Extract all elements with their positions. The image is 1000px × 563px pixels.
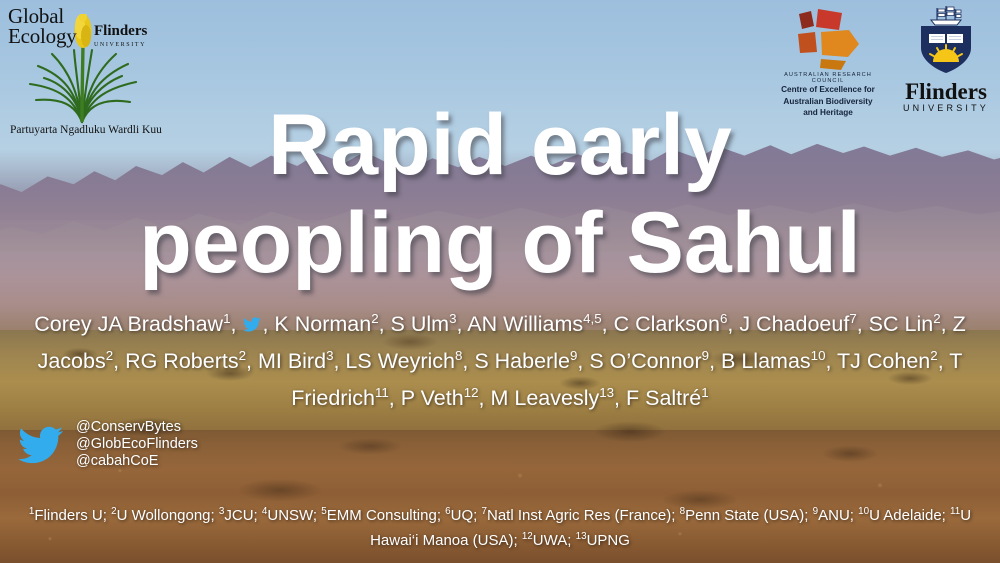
author-name: , AN Williams4,5 <box>457 312 602 336</box>
author-affil-marker: 11 <box>375 385 389 400</box>
affiliation-marker: 2 <box>111 506 117 517</box>
affiliation-entry: 12UWA; <box>522 532 576 549</box>
affiliation-marker: 8 <box>680 506 686 517</box>
cabah-line1: AUSTRALIAN RESEARCH COUNCIL <box>768 72 888 84</box>
author-name: , M Leavesly13 <box>479 386 615 410</box>
handle-lines: @ConservBytes@GlobEcoFlinders@cabahCoE <box>76 419 198 470</box>
social-handle[interactable]: @GlobEcoFlinders <box>76 436 198 453</box>
affiliation-entry: 4UNSW; <box>262 507 321 524</box>
affiliation-marker: 5 <box>321 506 327 517</box>
affiliation-marker: 12 <box>522 531 533 542</box>
affiliation-marker: 4 <box>262 506 268 517</box>
author-name: , J Chadoeuf7 <box>727 312 856 336</box>
ge-word-line1: Global <box>8 6 77 26</box>
author-name: , C Clarkson6 <box>602 312 728 336</box>
author-affil-marker: 4,5 <box>583 311 602 326</box>
affiliation-marker: 13 <box>576 531 587 542</box>
author-affil-marker: 12 <box>464 385 479 400</box>
author-affil-marker: 10 <box>811 348 826 363</box>
author-name: , MI Bird3 <box>246 349 333 373</box>
author-affil-marker: 13 <box>599 385 614 400</box>
title-line-2: peopling of Sahul <box>0 194 1000 292</box>
author-name: , F Saltré1 <box>614 386 709 410</box>
affiliation-entry: 5EMM Consulting; <box>321 507 445 524</box>
author-list: Corey JA Bradshaw1, , K Norman2, S Ulm3,… <box>26 303 974 414</box>
affiliation-entry: 9ANU; <box>813 507 859 524</box>
social-handle[interactable]: @ConservBytes <box>76 419 198 436</box>
ge-flinders-name: Flinders <box>94 23 147 39</box>
author-name: , B Llamas10 <box>709 349 825 373</box>
affiliation-entry: 2U Wollongong; <box>111 507 219 524</box>
author-name: , <box>231 312 243 336</box>
affiliations-footer: 1Flinders U; 2U Wollongong; 3JCU; 4UNSW;… <box>20 501 980 551</box>
seed-head <box>75 14 92 48</box>
author-affil-marker: 1 <box>701 385 708 400</box>
affiliation-marker: 7 <box>482 506 488 517</box>
author-name: , P Veth12 <box>389 386 479 410</box>
affiliation-entry: 3JCU; <box>219 507 262 524</box>
author-affil-marker: 2 <box>239 348 246 363</box>
slide-title: Rapid early peopling of Sahul <box>0 96 1000 292</box>
affiliation-marker: 6 <box>445 506 451 517</box>
author-affil-marker: 7 <box>849 311 856 326</box>
affiliation-marker: 10 <box>858 506 869 517</box>
author-name: , S Haberle9 <box>462 349 577 373</box>
affiliation-marker: 1 <box>29 506 35 517</box>
author-name: , SC Lin2 <box>857 312 941 336</box>
affiliation-entry: 10U Adelaide; <box>858 507 950 524</box>
affiliation-entry: 8Penn State (USA); <box>680 507 813 524</box>
affiliation-entry: 13UPNG <box>576 532 630 549</box>
social-handle[interactable]: @cabahCoE <box>76 453 198 470</box>
affiliation-marker: 9 <box>813 506 819 517</box>
author-affil-marker: 3 <box>449 311 456 326</box>
ge-flinders-partner: Flinders UNIVERSITY <box>94 24 147 52</box>
author-affil-marker: 1 <box>223 311 230 326</box>
ge-word-line2: Ecology <box>8 26 77 46</box>
cabah-line2: Centre of Excellence for <box>768 85 888 96</box>
cabah-puzzle-mark-icon <box>785 8 871 70</box>
author-affil-marker: 2 <box>930 348 937 363</box>
social-handles: @ConservBytes@GlobEcoFlinders@cabahCoE <box>18 419 198 470</box>
author-name: , RG Roberts2 <box>113 349 246 373</box>
author-name: , LS Weyrich8 <box>333 349 462 373</box>
affiliation-entry: 7Natl Inst Agric Res (France); <box>482 507 680 524</box>
author-name: Corey JA Bradshaw1 <box>34 312 230 336</box>
flinders-shield-icon <box>913 4 979 74</box>
presentation-slide: Global Ecology Flinders UNIVERSITY Partu… <box>0 0 1000 563</box>
ship-icon <box>931 6 961 25</box>
affiliation-marker: 3 <box>219 506 225 517</box>
affiliation-entry: 1Flinders U; <box>29 507 111 524</box>
author-name: , K Norman2 <box>262 312 378 336</box>
title-line-1: Rapid early <box>268 97 732 193</box>
author-affil-marker: 2 <box>371 311 378 326</box>
affiliation-marker: 11 <box>950 506 960 517</box>
open-book-icon <box>929 34 963 44</box>
author-affil-marker: 9 <box>702 348 709 363</box>
twitter-bird-icon[interactable] <box>18 425 64 465</box>
ge-flinders-sub: UNIVERSITY <box>94 38 147 52</box>
twitter-bird-icon[interactable] <box>243 317 261 332</box>
author-name: , TJ Cohen2 <box>825 349 937 373</box>
author-name: , S O’Connor9 <box>577 349 709 373</box>
global-ecology-wordmark: Global Ecology <box>8 6 77 46</box>
author-name: , S Ulm3 <box>379 312 457 336</box>
affiliation-entry: 6UQ; <box>445 507 481 524</box>
author-affil-marker: 2 <box>933 311 940 326</box>
